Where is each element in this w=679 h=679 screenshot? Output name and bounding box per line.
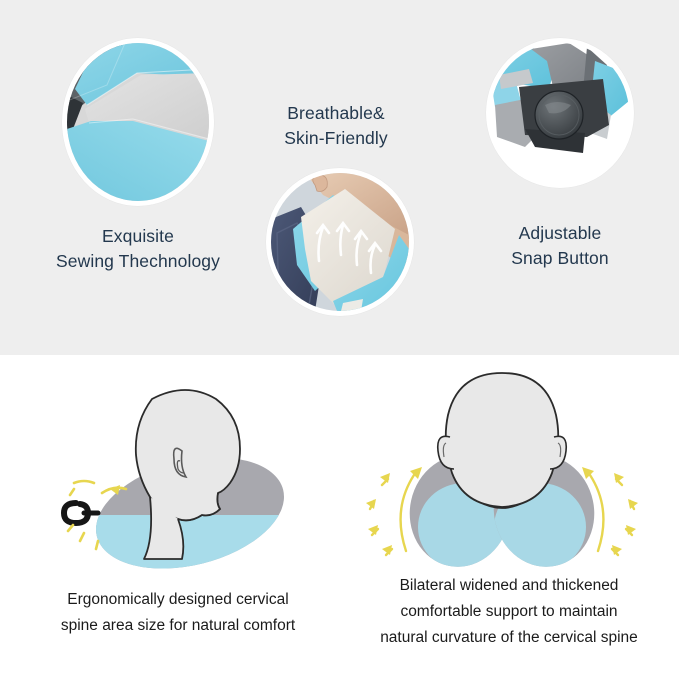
feature-label-line2: Snap Button [452,246,668,271]
caption-line2: comfortable support to maintain [344,599,674,625]
head-side-profile-with-pillow-diagram [40,363,340,578]
caption-line3: natural curvature of the cervical spine [344,625,674,651]
bottom-diagrams-panel: Ergonomically designed cervical spine ar… [0,355,679,679]
top-features-panel: Exquisite Sewing Thechnology Breathable&… [0,0,679,355]
front-view-svg [352,359,652,571]
side-profile-svg [40,363,340,578]
feature-label-line1: Breathable& [236,101,436,126]
feature-label-line1: Adjustable [452,221,668,246]
hook-clasp-icon [64,503,98,523]
snap-button-photo [486,38,634,188]
caption-line1: Bilateral widened and thickened [344,573,674,599]
fabric-closeup-photo [62,38,214,206]
fabric-closeup-illustration [67,43,209,201]
feature-label-line2: Skin-Friendly [236,126,436,151]
feature-label-adjustable-snap: Adjustable Snap Button [452,221,668,271]
airflow-lifestyle-photo-inner [271,173,409,311]
product-infographic: Exquisite Sewing Thechnology Breathable&… [0,0,679,679]
fabric-closeup-photo-inner [67,43,209,201]
feature-label-exquisite-sewing: Exquisite Sewing Thechnology [22,224,254,274]
snap-button-illustration [491,43,629,183]
feature-label-line1: Exquisite [22,224,254,249]
diagram-caption-bilateral: Bilateral widened and thickened comforta… [344,573,674,651]
caption-line2: spine area size for natural comfort [8,613,348,639]
feature-label-line2: Sewing Thechnology [22,249,254,274]
caption-line1: Ergonomically designed cervical [8,587,348,613]
head-front-view-with-pillow-diagram [352,359,652,571]
feature-label-breathable: Breathable& Skin-Friendly [236,101,436,151]
airflow-lifestyle-photo [266,168,414,316]
snap-button-photo-inner [491,43,629,183]
diagram-caption-ergonomic: Ergonomically designed cervical spine ar… [8,587,348,639]
airflow-illustration [271,173,409,311]
